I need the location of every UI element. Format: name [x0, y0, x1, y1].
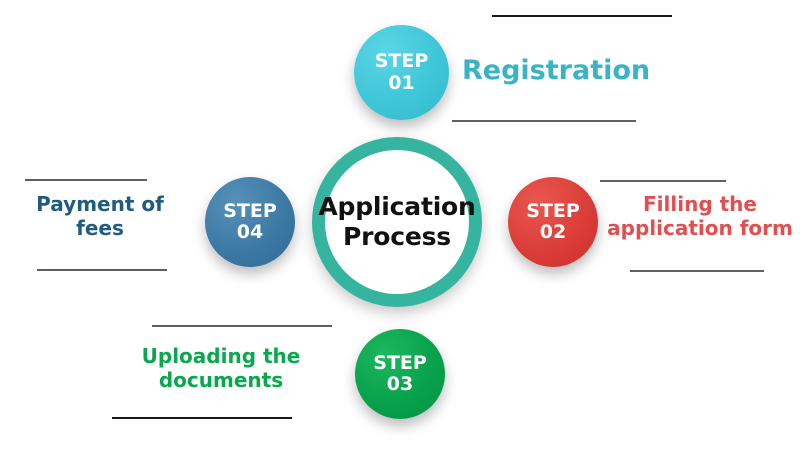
step-label-uploading-documents: Uploading the documents — [118, 344, 324, 392]
step-badge-04[interactable]: STEP 04 — [205, 177, 295, 267]
step-badge-04-word: STEP — [223, 201, 277, 222]
step-badge-03[interactable]: STEP 03 — [355, 329, 445, 419]
step-badge-04-text: STEP 04 — [223, 201, 277, 244]
step-badge-02[interactable]: STEP 02 — [508, 177, 598, 267]
registration-rule-top — [492, 15, 672, 17]
step-label-payment-line2: fees — [5, 216, 195, 240]
filling-rule-top — [600, 180, 726, 182]
uploading-rule-bottom — [112, 417, 292, 419]
step-badge-01-word: STEP — [375, 51, 429, 72]
filling-rule-bottom — [630, 270, 764, 272]
step-badge-01[interactable]: STEP 01 — [354, 25, 449, 120]
step-label-registration: Registration — [462, 55, 692, 87]
step-badge-01-number: 01 — [375, 73, 429, 94]
step-label-uploading-line1: Uploading the — [118, 344, 324, 368]
uploading-rule-top — [152, 325, 332, 327]
step-badge-03-word: STEP — [373, 353, 427, 374]
step-label-payment-of-fees: Payment of fees — [5, 192, 195, 240]
center-hub-text: Application Process — [318, 192, 475, 253]
payment-rule-top — [25, 179, 147, 181]
step-badge-03-text: STEP 03 — [373, 353, 427, 396]
step-badge-02-number: 02 — [526, 222, 580, 243]
center-hub-line1: Application — [318, 192, 475, 223]
step-badge-03-number: 03 — [373, 374, 427, 395]
step-label-uploading-line2: documents — [118, 368, 324, 392]
step-label-registration-line1: Registration — [462, 55, 692, 87]
step-badge-01-text: STEP 01 — [375, 51, 429, 94]
step-label-payment-line1: Payment of — [5, 192, 195, 216]
step-badge-02-word: STEP — [526, 201, 580, 222]
step-label-filling-line2: application form — [600, 216, 800, 240]
step-label-filling-line1: Filling the — [600, 192, 800, 216]
step-badge-02-text: STEP 02 — [526, 201, 580, 244]
payment-rule-bottom — [37, 269, 167, 271]
process-diagram: Application Process STEP 01 STEP 02 STEP… — [0, 0, 800, 450]
step-label-filling-application-form: Filling the application form — [600, 192, 800, 240]
center-hub-application-process[interactable]: Application Process — [312, 137, 482, 307]
registration-rule-bottom — [452, 120, 636, 122]
center-hub-line2: Process — [318, 222, 475, 253]
step-badge-04-number: 04 — [223, 222, 277, 243]
